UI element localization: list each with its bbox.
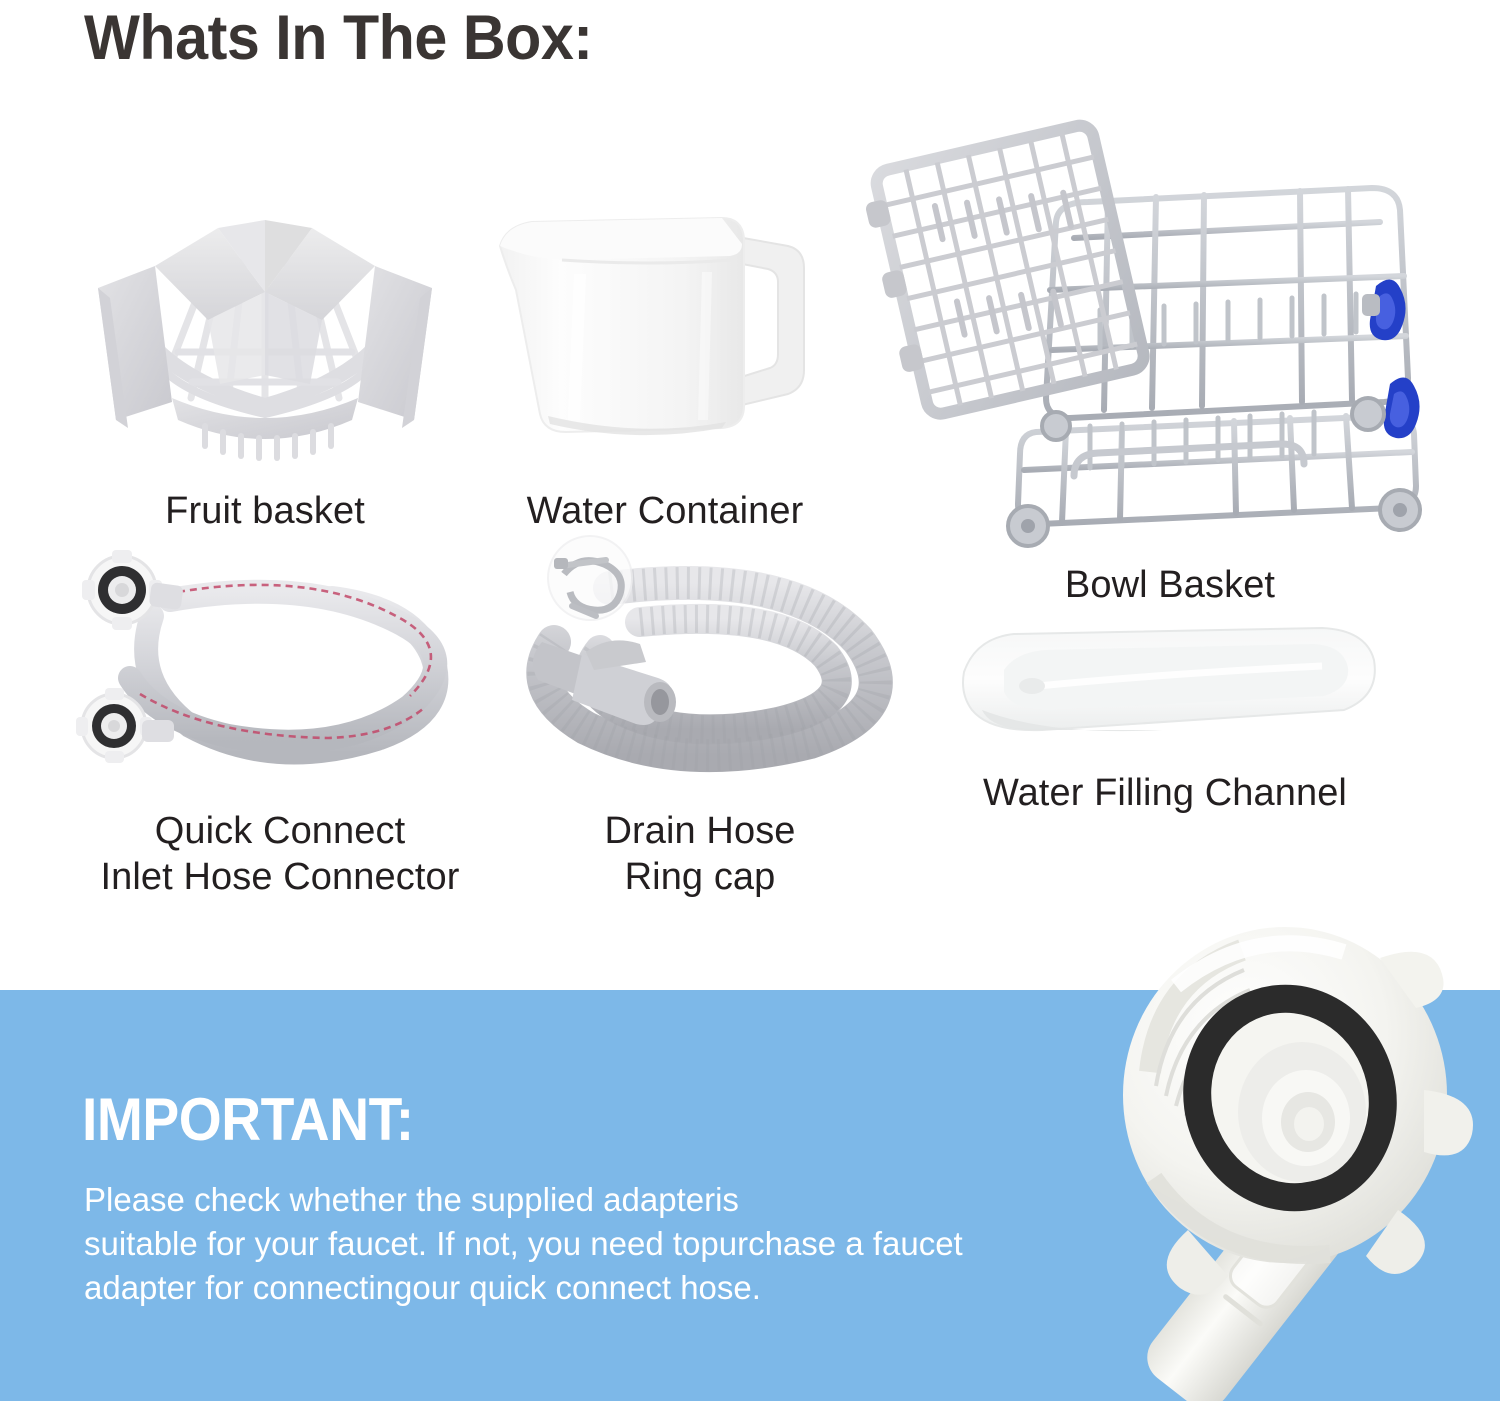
inlet-hose-icon [60,530,500,790]
page-title: Whats In The Box: [84,2,593,74]
bowl-basket-icon [860,110,1480,570]
item-fruit-basket: Fruit basket [60,170,470,590]
water-filling-channel-icon [930,610,1400,750]
item-label: Water Filling Channel [930,770,1400,816]
item-water-channel: Water Filling Channel [930,610,1400,860]
basket-wheel [1008,506,1048,546]
important-title: IMPORTANT: [82,1085,414,1154]
ring-cap [548,536,632,620]
item-label: Drain Hose Ring cap [490,808,910,900]
basket-wheel [1042,412,1070,440]
item-water-container: Water Container [470,170,860,590]
bowl-basket-image [860,110,1480,570]
item-label: Bowl Basket [860,562,1480,608]
drain-hose-icon [490,530,910,790]
inlet-hose-image [60,530,500,790]
important-body-text: Please check whether the supplied adapte… [84,1178,1094,1310]
item-bowl-basket: Bowl Basket [860,110,1480,630]
water-container-icon [470,170,860,470]
product-infographic-page: Whats In The Box: [0,0,1500,1401]
water-filling-channel-image [930,610,1400,750]
item-label: Quick Connect Inlet Hose Connector [60,808,500,900]
water-container-image [470,170,860,470]
hose-connector [82,550,184,630]
basket-wheel [1380,490,1420,530]
item-label: Fruit basket [60,488,470,534]
item-inlet-hose: Quick Connect Inlet Hose Connector [60,530,500,980]
basket-wheel [1352,398,1384,430]
blue-clip [1362,279,1406,340]
fruit-basket-image [60,170,470,470]
item-label: Water Container [470,488,860,534]
drain-hose-image [490,530,910,790]
fruit-basket-icon [60,170,470,470]
item-drain-hose: Drain Hose Ring cap [490,530,910,980]
items-grid: Fruit basket [0,110,1500,980]
